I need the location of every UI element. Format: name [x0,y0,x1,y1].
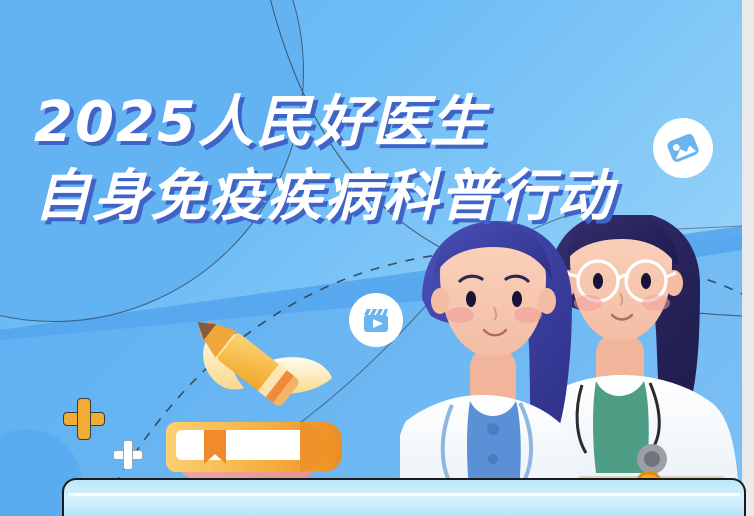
gold-plus-decoration [63,398,105,440]
doctor-left [400,221,582,516]
doctors-illustration [400,215,754,516]
tablet-edge [62,478,746,516]
white-plus-decoration [113,440,143,470]
title-line-1: 2025人民好医生 [34,90,488,155]
page-title: 2025人民好医生 自身免疫疾病科普行动 [34,86,724,234]
poster-banner: 2025人民好医生 自身免疫疾病科普行动 [0,0,754,516]
video-badge[interactable] [349,293,403,347]
book-icon [166,422,342,472]
title-line-2: 自身免疫疾病科普行动 [34,160,724,234]
video-clapperboard-icon [360,304,392,336]
winged-pencil-and-book [160,300,360,500]
